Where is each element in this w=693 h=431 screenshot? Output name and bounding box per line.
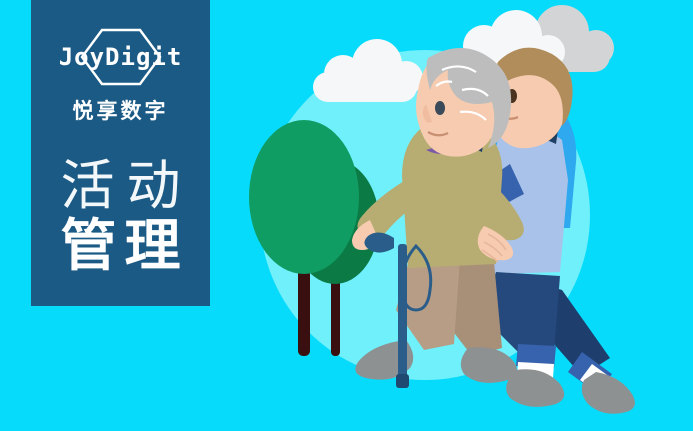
logo-subtitle: 悦享数字 — [73, 95, 169, 125]
logo: JoyDigit — [46, 28, 196, 86]
headline-line-2: 管理 — [49, 217, 193, 277]
illustration — [210, 0, 693, 431]
cloud-left — [313, 39, 423, 102]
elderly-eye — [435, 101, 445, 115]
cane-tip — [396, 374, 409, 388]
poster-canvas: JoyDigit 悦享数字 活动 管理 — [0, 0, 693, 431]
scene-svg — [210, 0, 693, 431]
youth-back-shoe — [582, 372, 635, 414]
elderly-head — [416, 48, 511, 157]
brand-panel: JoyDigit 悦享数字 活动 管理 — [31, 0, 210, 306]
headline: 活动 管理 — [49, 157, 193, 278]
logo-wordmark: JoyDigit — [46, 28, 196, 86]
headline-line-1: 活动 — [49, 157, 193, 215]
